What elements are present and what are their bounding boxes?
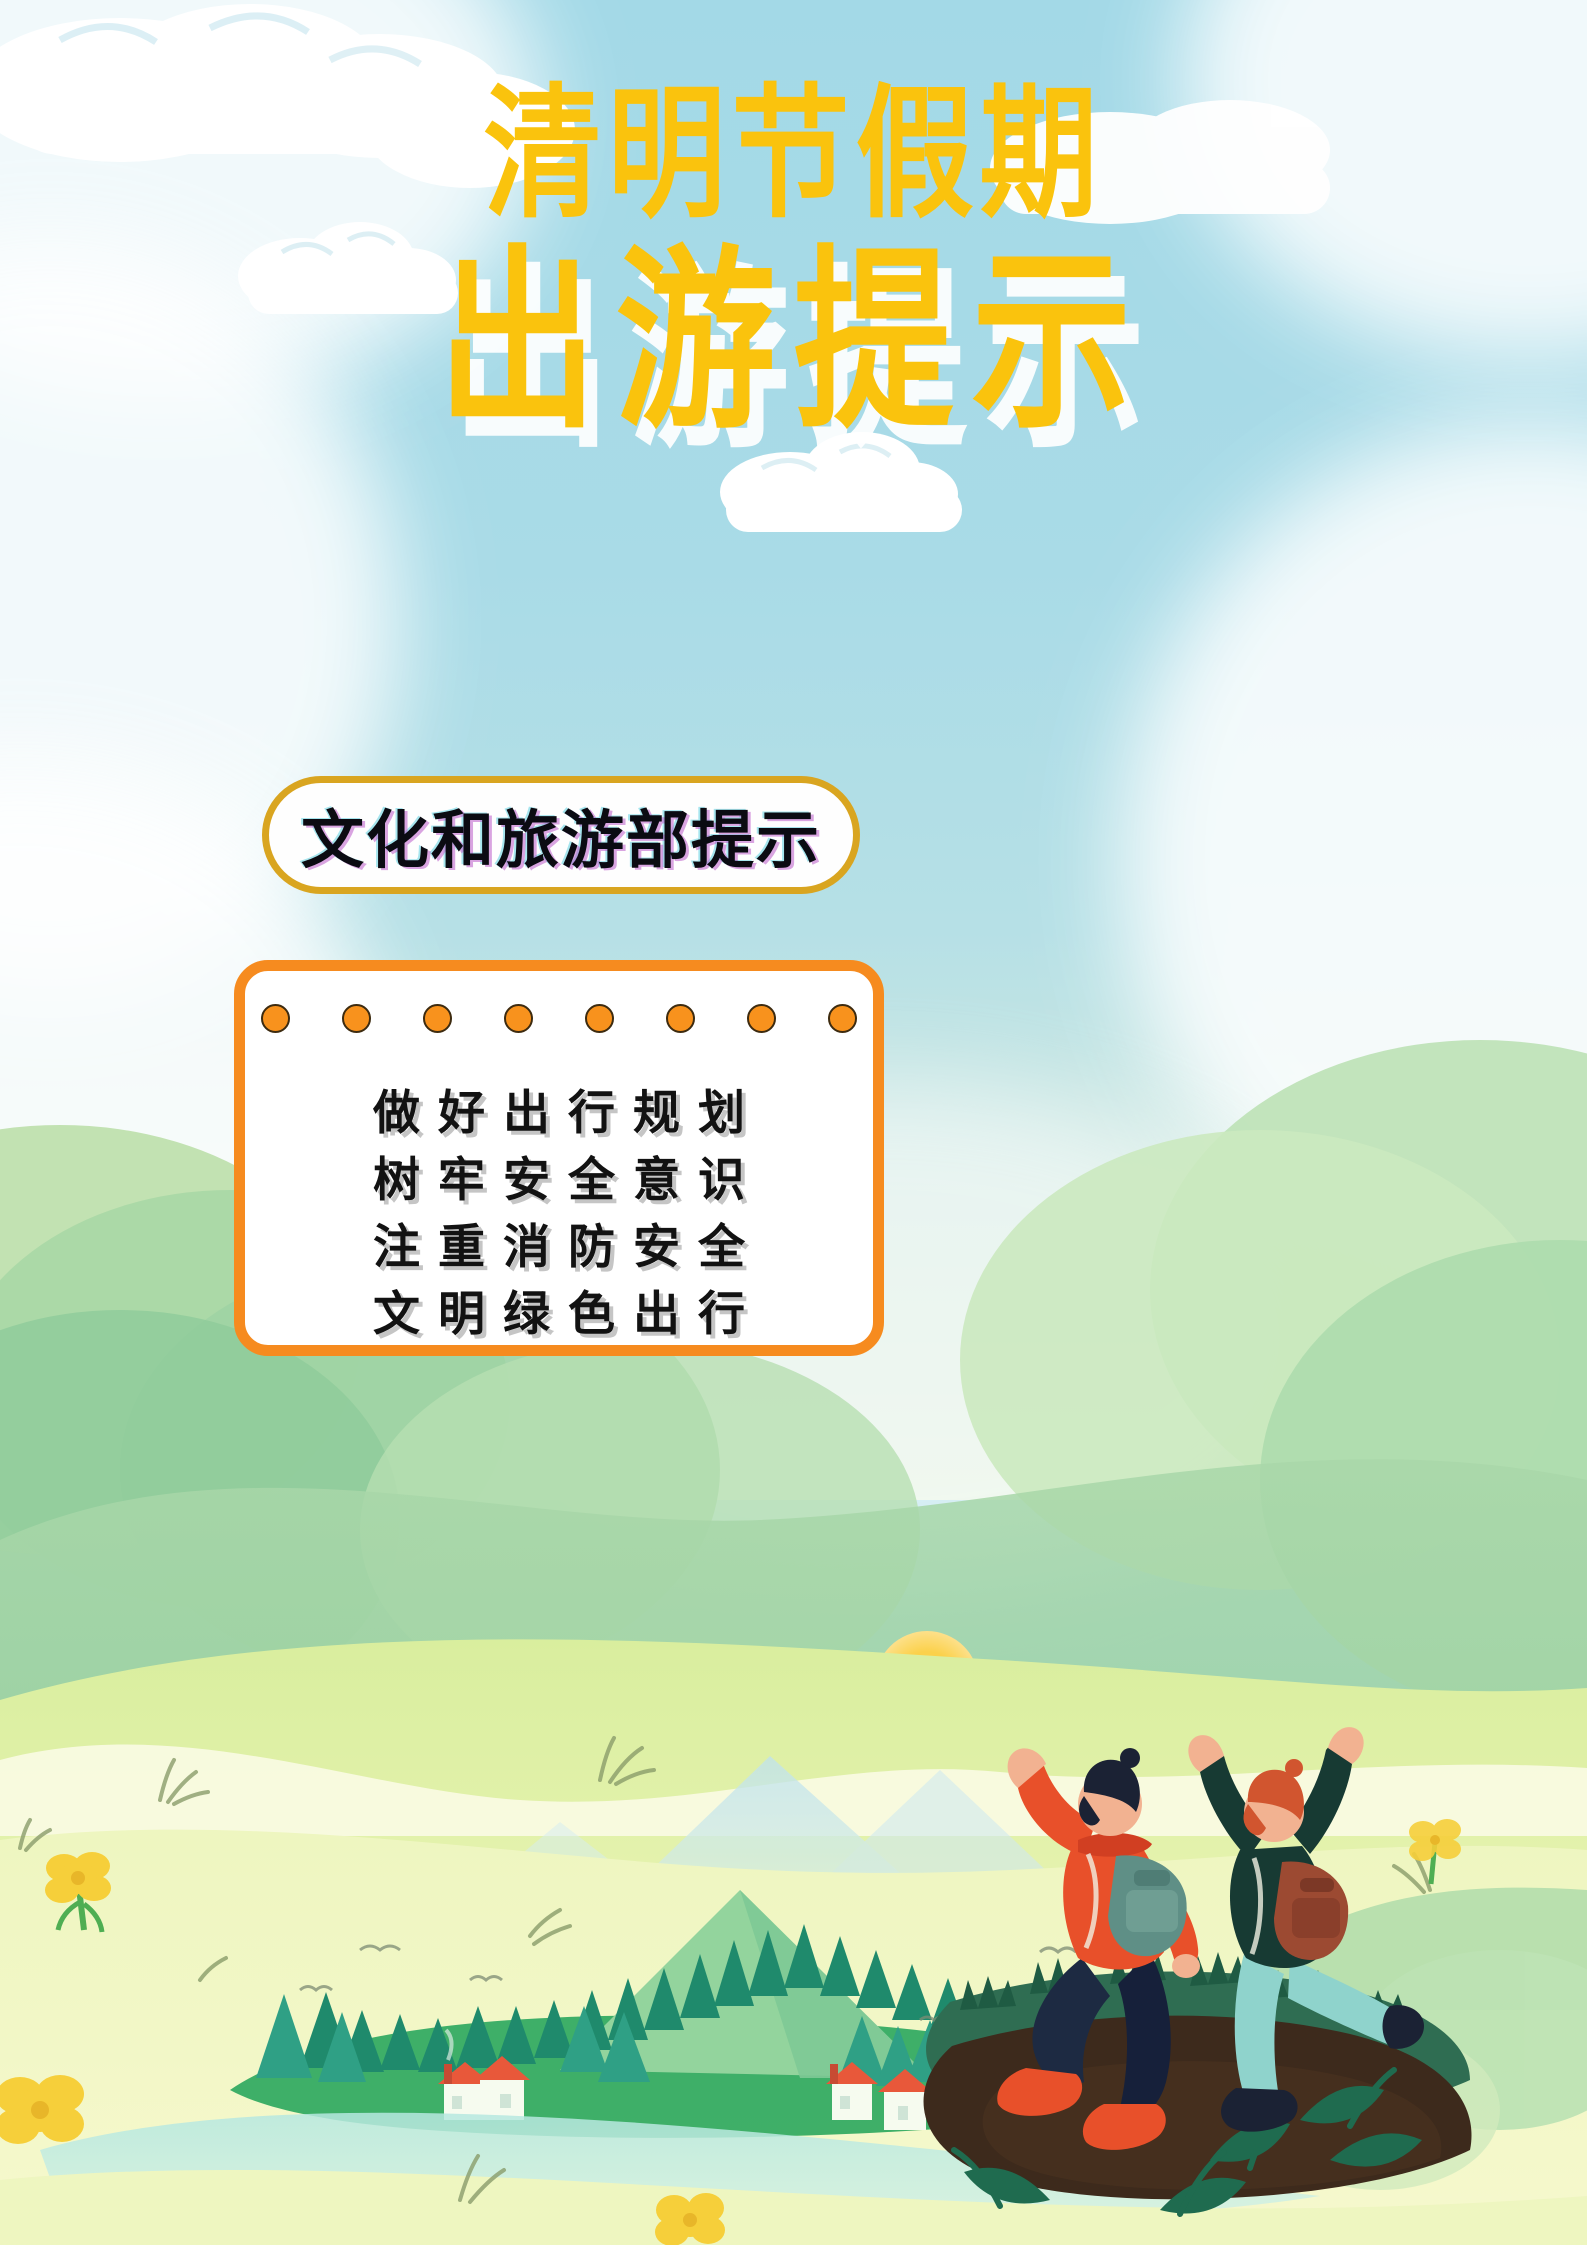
tip-line: 注重消防安全: [355, 1215, 763, 1278]
tips-card: 做好出行规划 树牢安全意识 注重消防安全 文明绿色出行: [234, 960, 884, 1356]
tips-list: 做好出行规划 树牢安全意识 注重消防安全 文明绿色出行: [245, 1081, 873, 1345]
card-dot: [585, 1004, 614, 1033]
tip-line: 文明绿色出行: [355, 1282, 763, 1345]
ministry-notice-label: 文化和旅游部提示: [301, 790, 821, 881]
card-dot: [828, 1004, 857, 1033]
ministry-notice-pill[interactable]: 文化和旅游部提示: [262, 776, 860, 894]
card-dot: [504, 1004, 533, 1033]
tip-line: 树牢安全意识: [355, 1148, 763, 1211]
poster-canvas: 清明节假期 出游提示 文化和旅游部提示 做好出行规划 树牢安全意识 注重消防安全…: [0, 0, 1587, 2245]
tip-line: 做好出行规划: [355, 1081, 763, 1144]
card-dot: [342, 1004, 371, 1033]
poster-title-line-2: 出游提示: [0, 244, 1587, 439]
card-dot: [747, 1004, 776, 1033]
card-dot: [423, 1004, 452, 1033]
card-dot-row: [245, 1004, 873, 1033]
poster-title-line-1: 清明节假期: [0, 83, 1587, 227]
card-dot: [261, 1004, 290, 1033]
card-dot: [666, 1004, 695, 1033]
